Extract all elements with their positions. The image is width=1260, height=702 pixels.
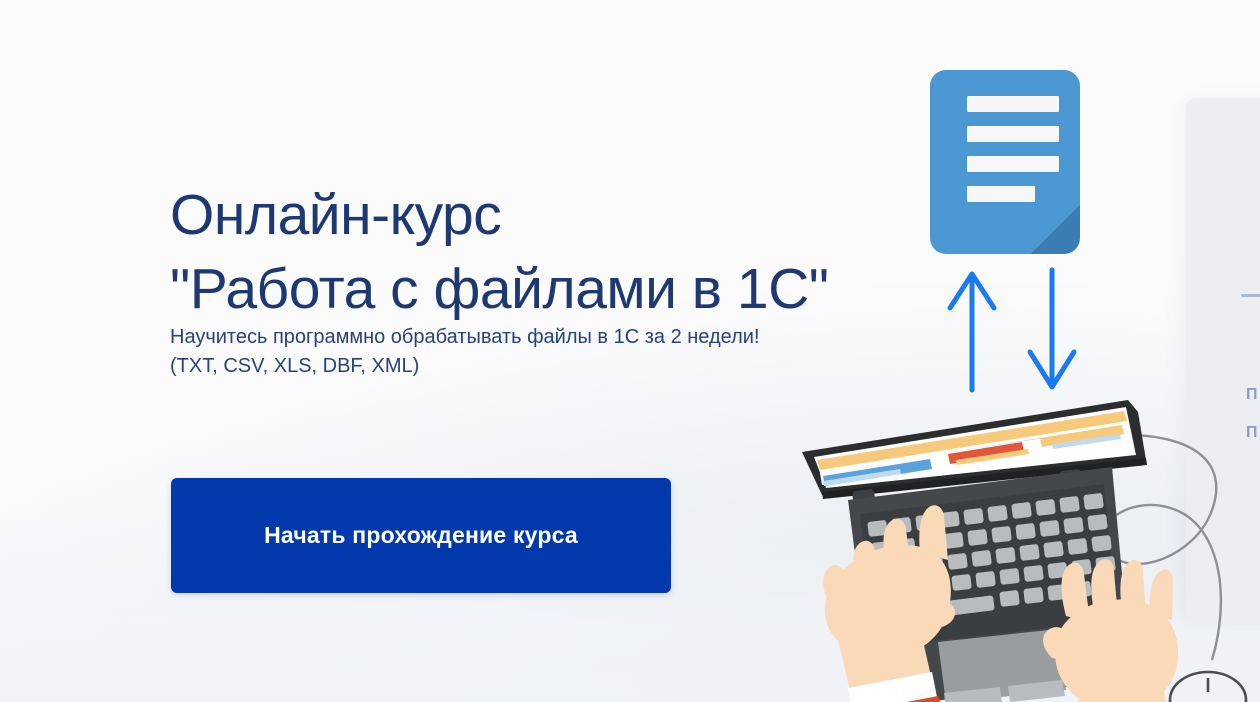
hero-illustration <box>760 40 1260 702</box>
start-course-button[interactable]: Начать прохождение курса <box>171 478 671 593</box>
upload-arrow-icon <box>950 274 994 390</box>
computer-mouse-icon <box>1170 672 1246 702</box>
document-file-icon <box>930 70 1080 254</box>
hero-screen: П П Онлайн-курс "Работа с файлами в 1С" … <box>0 0 1260 702</box>
right-hand-illustration <box>1043 559 1178 702</box>
download-arrow-icon <box>1030 270 1074 387</box>
